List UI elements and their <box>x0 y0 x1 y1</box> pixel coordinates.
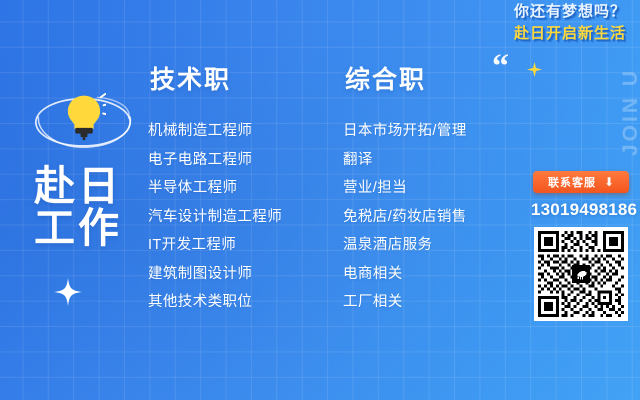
sparkle-icon <box>527 62 542 77</box>
list-item[interactable]: 免税店/药妆店销售 <box>343 210 467 225</box>
poster-canvas: JOIN U 你还有梦想吗？ 赴日开启新生活 “ <box>0 0 640 400</box>
list-item[interactable]: 建筑制图设计师 <box>148 267 282 282</box>
brand-block: 赴日 工作 <box>18 88 150 250</box>
sparkle-icon-large <box>54 278 82 306</box>
brand-title-line-2: 工作 <box>34 208 150 250</box>
quote-mark-icon: “ <box>492 50 509 84</box>
arrow-down-icon: ⬇ <box>604 176 614 188</box>
job-list-technical: 机械制造工程师 电子电路工程师 半导体工程师 汽车设计制造工程师 IT开发工程师… <box>148 124 282 310</box>
qr-code-image <box>538 231 624 317</box>
list-item[interactable]: 电商相关 <box>343 267 467 282</box>
column-heading-technical: 技术职 <box>150 60 282 96</box>
column-technical: 技术职 机械制造工程师 电子电路工程师 半导体工程师 汽车设计制造工程师 IT开… <box>148 60 282 324</box>
brand-title: 赴日 工作 <box>34 166 150 250</box>
headline: 你还有梦想吗？ 赴日开启新生活 <box>514 4 626 41</box>
list-item[interactable]: 机械制造工程师 <box>148 124 282 139</box>
list-item[interactable]: 汽车设计制造工程师 <box>148 210 282 225</box>
list-item[interactable]: 半导体工程师 <box>148 181 282 196</box>
list-item[interactable]: IT开发工程师 <box>148 238 282 253</box>
lightbulb-icon <box>62 93 106 141</box>
list-item[interactable]: 营业/担当 <box>343 181 467 196</box>
list-item[interactable]: 工厂相关 <box>343 295 467 310</box>
column-heading-general: 综合职 <box>345 60 467 96</box>
contact-support-button[interactable]: 联系客服 ⬇ <box>533 171 629 193</box>
headline-line-1: 你还有梦想吗？ <box>514 4 626 19</box>
lightbulb-badge <box>24 88 142 154</box>
list-item[interactable]: 翻译 <box>343 153 467 168</box>
list-item[interactable]: 电子电路工程师 <box>148 153 282 168</box>
list-item[interactable]: 温泉酒店服务 <box>343 238 467 253</box>
headline-line-2: 赴日开启新生活 <box>514 26 626 41</box>
job-list-general: 日本市场开拓/管理 翻译 营业/担当 免税店/药妆店销售 温泉酒店服务 电商相关… <box>343 124 467 310</box>
join-us-watermark: JOIN U <box>620 68 640 156</box>
list-item[interactable]: 日本市场开拓/管理 <box>343 124 467 139</box>
qr-code[interactable] <box>534 227 628 321</box>
contact-support-label: 联系客服 <box>548 174 596 190</box>
list-item[interactable]: 其他技术类职位 <box>148 295 282 310</box>
phone-number: 13019498186 <box>531 200 631 220</box>
brand-title-line-1: 赴日 <box>34 166 150 208</box>
column-general: 综合职 日本市场开拓/管理 翻译 营业/担当 免税店/药妆店销售 温泉酒店服务 … <box>343 60 467 324</box>
